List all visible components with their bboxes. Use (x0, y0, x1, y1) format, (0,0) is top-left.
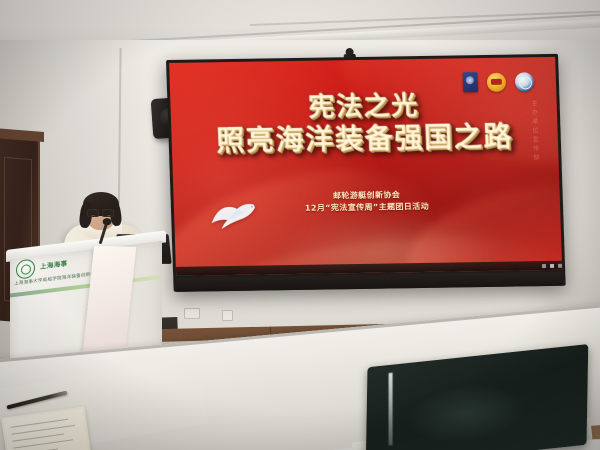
led-display[interactable]: 主 办 单 位 宣 传 部 宪法之光 照亮海洋装备强国之路 邮轮游艇创新协会 1… (166, 54, 566, 292)
institution-seal-icon (16, 258, 35, 279)
slide-title-line1: 宪法之光 (170, 91, 557, 123)
screen-reflection (406, 379, 526, 448)
photo-scene: 主 办 单 位 宣 传 部 宪法之光 照亮海洋装备强国之路 邮轮游艇创新协会 1… (0, 0, 600, 450)
screen-glare (389, 373, 393, 446)
notebook-page (3, 409, 88, 450)
taskbar-app-icon[interactable] (558, 263, 562, 267)
wall-outlet (222, 310, 233, 321)
taskbar-app-icon[interactable] (542, 264, 546, 268)
peace-dove-icon (208, 196, 259, 231)
podium-logo-name: 上海海事 (40, 261, 68, 271)
wall-outlet (184, 308, 200, 319)
display-screen: 主 办 单 位 宣 传 部 宪法之光 照亮海洋装备强国之路 邮轮游艇创新协会 1… (169, 57, 562, 276)
gold-circular-emblem-icon (487, 72, 507, 91)
slide-title-line2: 照亮海洋装备强国之路 (171, 122, 558, 156)
blue-circular-emblem-icon (515, 72, 535, 91)
emblem-group (463, 71, 535, 92)
slide-content: 主 办 单 位 宣 传 部 宪法之光 照亮海洋装备强国之路 邮轮游艇创新协会 1… (169, 57, 562, 276)
eyeglasses-icon (87, 209, 114, 215)
taskbar-app-icon[interactable] (550, 263, 554, 267)
slide-title-block: 宪法之光 照亮海洋装备强国之路 (170, 91, 558, 156)
party-flag-emblem-icon (463, 72, 479, 92)
side-char: 部 (533, 155, 539, 161)
